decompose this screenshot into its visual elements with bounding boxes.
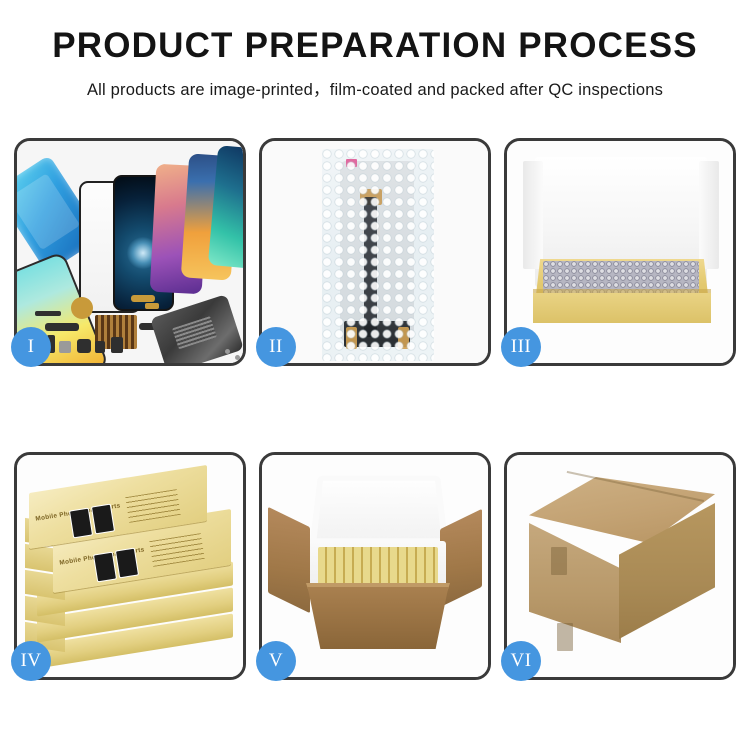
part-screw-icon (235, 355, 240, 360)
process-panel-grid: I II III (14, 138, 736, 680)
part-gold-clip-icon (145, 303, 159, 309)
panel-6-image (507, 455, 733, 677)
part-button-icon (95, 341, 105, 353)
packed-boxes-icon (318, 547, 438, 589)
panel-badge-4: IV (11, 641, 51, 681)
page-header: PRODUCT PREPARATION PROCESS All products… (0, 0, 750, 100)
box-thumbnail-icon (93, 552, 117, 583)
panel-badge-2: II (256, 327, 296, 367)
page-title: PRODUCT PREPARATION PROCESS (0, 28, 750, 63)
part-speaker-icon (35, 311, 61, 316)
box-thumbnail-icon (91, 504, 115, 535)
retail-box-stack: Mobile Phone Spare Parts Mobile Phone Sp… (25, 479, 241, 663)
carton-body-icon (298, 587, 458, 649)
process-panel-1: I (14, 138, 246, 366)
panel-badge-1: I (11, 327, 51, 367)
part-gold-flex-icon (131, 295, 155, 302)
part-module-icon (111, 337, 123, 353)
part-cable-icon (45, 323, 79, 331)
process-panel-2: II (259, 138, 491, 366)
panel-4-image: Mobile Phone Spare Parts Mobile Phone Sp… (17, 455, 243, 677)
box-front-panel-icon (533, 293, 711, 323)
panel-badge-5: V (256, 641, 296, 681)
carton-flap-left-icon (268, 507, 310, 613)
panel-badge-3: III (501, 327, 541, 367)
part-camera-icon (77, 339, 91, 353)
panel-3-image (507, 141, 733, 363)
panel-5-image (262, 455, 488, 677)
box-thumbnail-icon (69, 508, 93, 539)
process-panel-5: V (259, 452, 491, 680)
bubble-texture (322, 149, 434, 361)
carton-tab-icon (551, 547, 567, 575)
page-subtitle: All products are image-printed，film-coat… (0, 76, 750, 100)
part-sim-tray-icon (59, 341, 71, 353)
panel-1-image (17, 141, 243, 363)
spare-parts-cluster (35, 289, 243, 363)
carton-left-face-icon (529, 523, 621, 643)
box-thumbnail-icon (115, 548, 139, 579)
panel-badge-6: VI (501, 641, 541, 681)
part-screw-icon (225, 349, 230, 354)
panel-2-image (262, 141, 488, 363)
foam-lid-icon (310, 476, 449, 545)
bubble-wrap-bag (322, 149, 434, 361)
part-gold-disc-icon (71, 297, 93, 319)
process-panel-6: VI (504, 452, 736, 680)
process-panel-4: Mobile Phone Spare Parts Mobile Phone Sp… (14, 452, 246, 680)
process-panel-3: III (504, 138, 736, 366)
carton-tab-icon (557, 623, 573, 651)
